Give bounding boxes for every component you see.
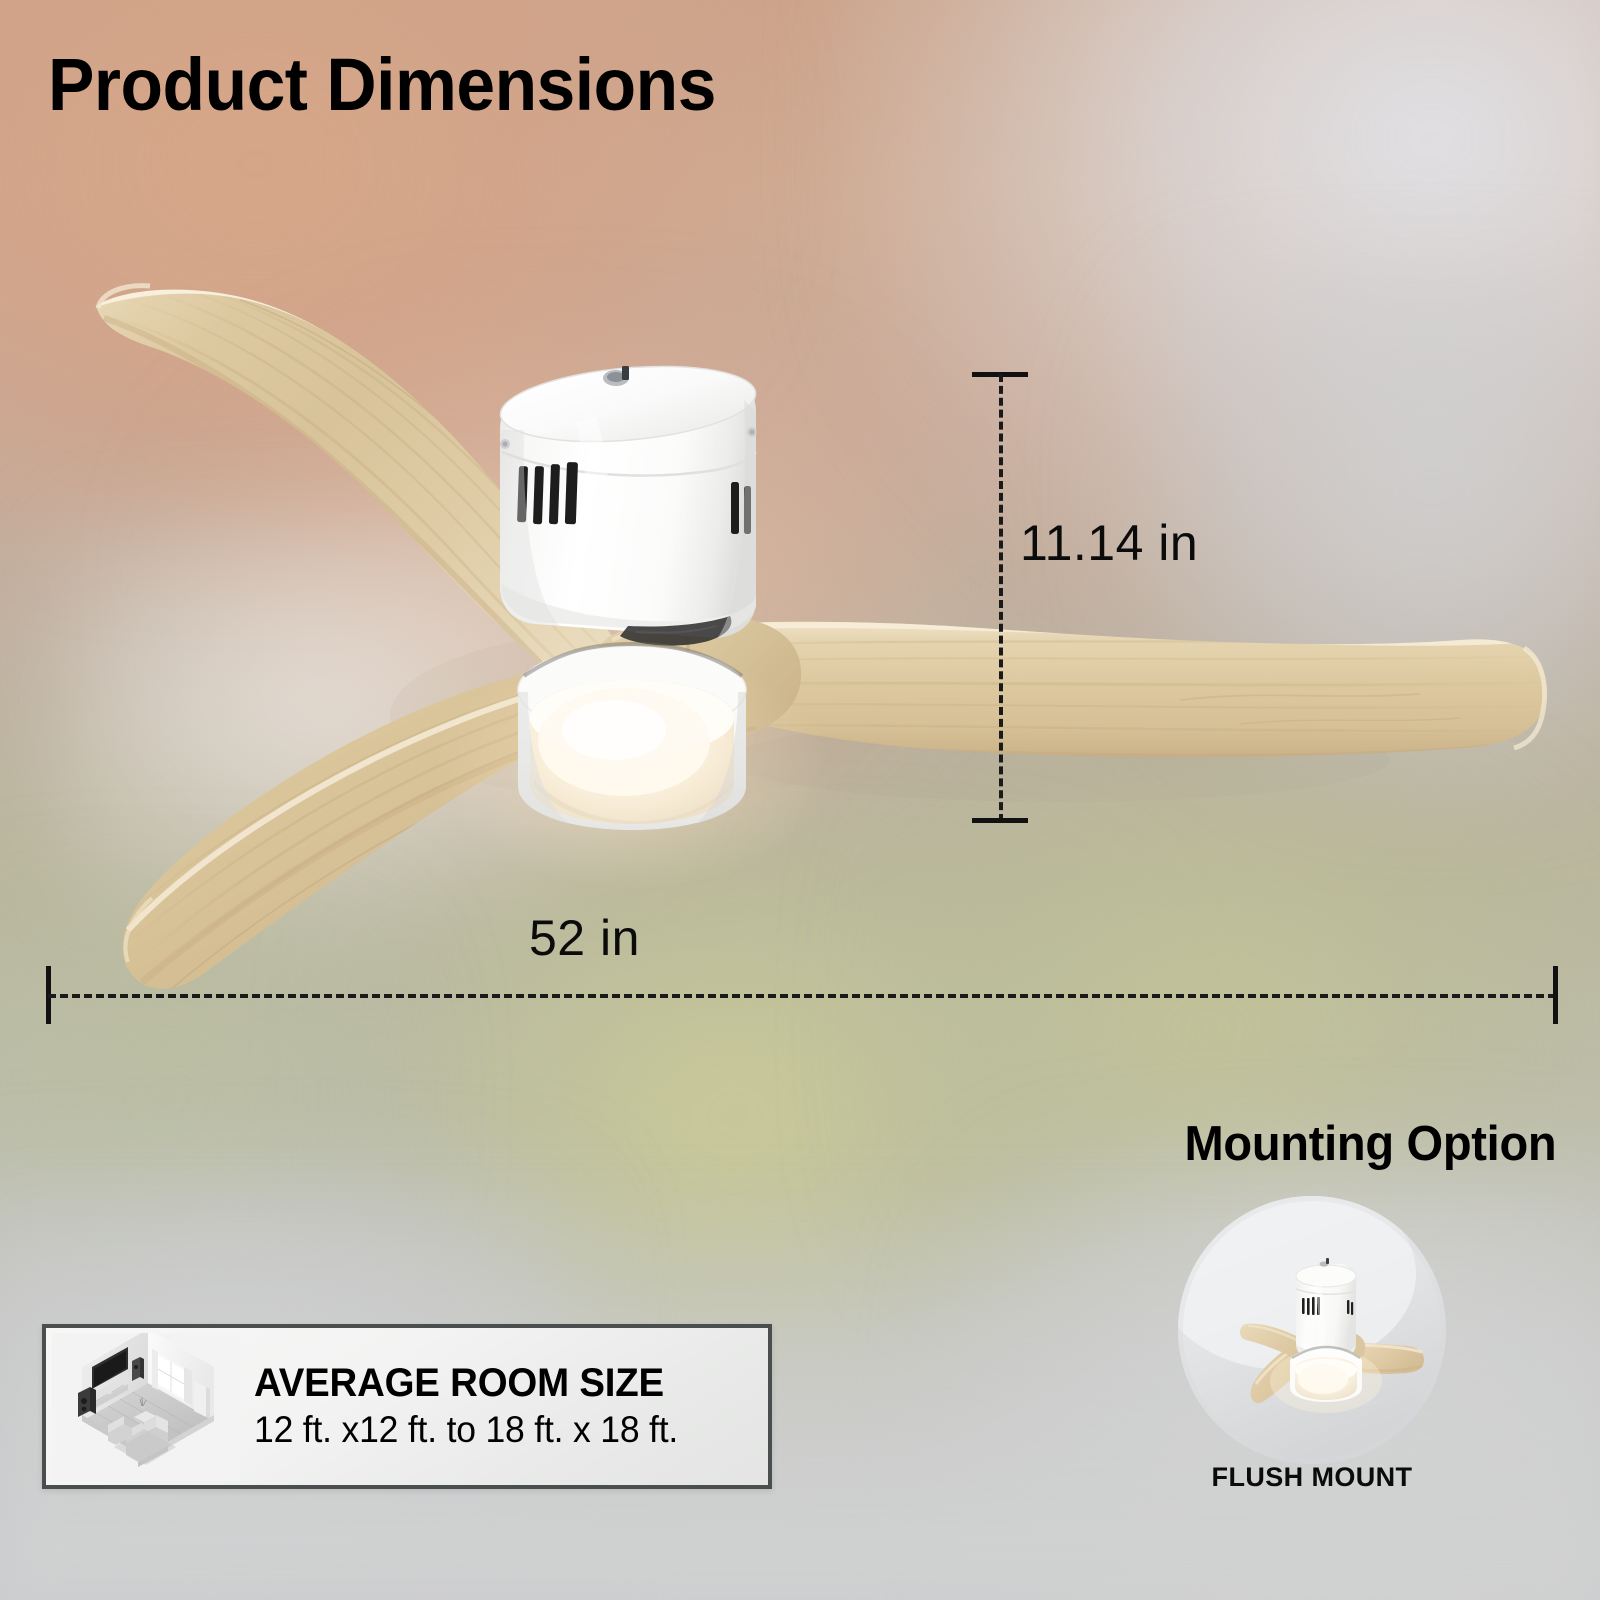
width-dimension-line [48, 994, 1556, 998]
isometric-living-room-icon [52, 1333, 240, 1481]
average-room-size-card: AVERAGE ROOM SIZE 12 ft. x12 ft. to 18 f… [42, 1324, 772, 1489]
room-size-heading: AVERAGE ROOM SIZE [254, 1363, 678, 1405]
room-size-text-block: AVERAGE ROOM SIZE 12 ft. x12 ft. to 18 f… [254, 1363, 696, 1450]
flush-mount-fan-photo [1178, 1196, 1446, 1464]
height-dimension-cap-bottom [972, 818, 1028, 823]
height-dimension-label: 11.14 in [1020, 514, 1198, 572]
flush-mount-option [1178, 1196, 1446, 1464]
width-dimension-cap-right [1553, 966, 1558, 1024]
room-size-range: 12 ft. x12 ft. to 18 ft. x 18 ft. [254, 1409, 678, 1450]
height-dimension-line [999, 374, 1003, 822]
mounting-section-title: Mounting Option [1184, 1116, 1556, 1172]
fan-motor-housing [497, 357, 758, 646]
width-dimension-label: 52 in [529, 909, 640, 967]
flush-mount-label: FLUSH MOUNT [1178, 1462, 1446, 1493]
